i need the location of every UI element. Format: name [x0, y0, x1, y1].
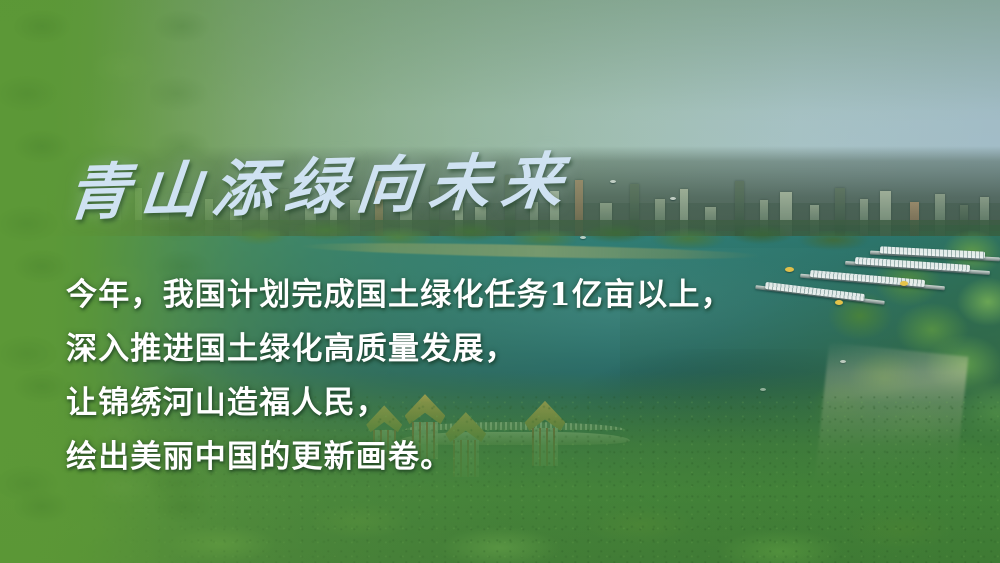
body-copy-block: 今年，我国计划完成国土绿化任务1亿亩以上， 深入推进国土绿化高质量发展， 让锦绣…: [66, 268, 733, 484]
poster-canvas: 青山添绿向未来 今年，我国计划完成国土绿化任务1亿亩以上， 深入推进国土绿化高质…: [0, 0, 1000, 563]
headline-calligraphy: 青山添绿向未来: [68, 152, 688, 238]
body-line-3: 让锦绣河山造福人民，: [66, 376, 733, 430]
body-line-1: 今年，我国计划完成国土绿化任务1亿亩以上，: [66, 268, 733, 322]
body-line-4: 绘出美丽中国的更新画卷。: [66, 430, 733, 484]
headline-text: 青山添绿向未来: [64, 137, 694, 236]
body-line-2: 深入推进国土绿化高质量发展，: [66, 322, 733, 376]
